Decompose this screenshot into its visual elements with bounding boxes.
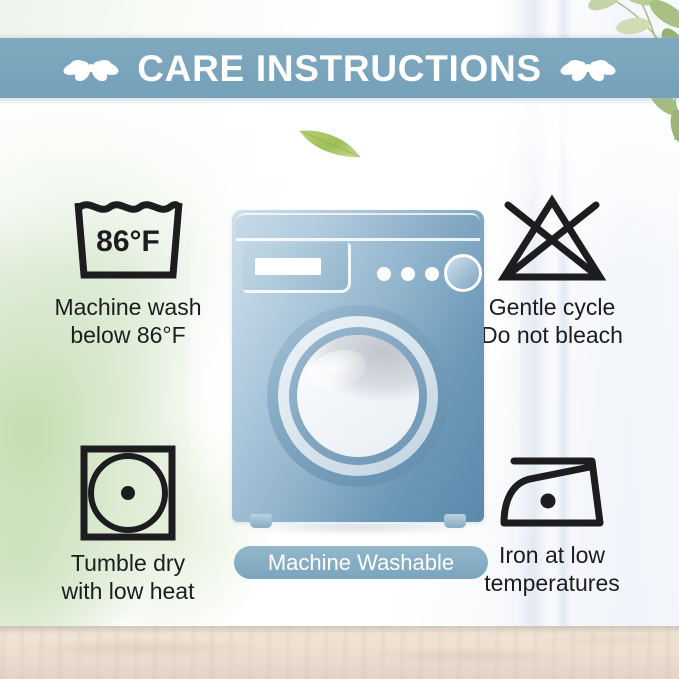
control-knob — [444, 254, 482, 292]
washing-machine-illustration — [232, 210, 484, 530]
machine-foot-left — [250, 514, 272, 528]
tumble-dry-heat-dot — [121, 486, 135, 500]
fleur-de-lis-icon-left — [63, 46, 119, 90]
care-label-machine-wash: Machine wash below 86°F — [8, 293, 248, 349]
header-banner: CARE INSTRUCTIONS — [0, 38, 679, 98]
tumble-dry-low-icon — [8, 443, 248, 543]
wood-grain-texture — [0, 626, 679, 679]
control-indicator-dot-1 — [377, 267, 391, 281]
care-label-tumble-dry: Tumble dry with low heat — [8, 549, 248, 605]
wash-basin-icon: 86°F — [8, 193, 248, 285]
floating-leaf-icon — [296, 122, 366, 164]
machine-washable-badge: Machine Washable — [234, 546, 488, 579]
machine-foot-right — [444, 514, 466, 528]
wooden-table-surface — [0, 626, 679, 679]
fleur-de-lis-icon-right — [560, 46, 616, 90]
machine-top-panel — [236, 213, 480, 239]
machine-panel-divider — [236, 238, 480, 241]
control-indicator-dot-2 — [401, 267, 415, 281]
door-glass — [297, 335, 419, 457]
table-front-edge — [0, 626, 679, 633]
detergent-drawer — [243, 243, 351, 293]
wash-temperature-value: 86°F — [96, 225, 160, 258]
banner-bottom-shadow — [0, 98, 679, 105]
machine-washable-badge-label: Machine Washable — [268, 552, 454, 574]
care-symbol-tumble-dry: Tumble dry with low heat — [8, 443, 248, 605]
iron-temperature-dot — [541, 494, 556, 509]
care-instructions-infographic: CARE INSTRUCTIONS — [0, 0, 679, 679]
care-symbol-machine-wash: 86°F Machine wash below 86°F — [8, 193, 248, 349]
page-title: CARE INSTRUCTIONS — [137, 50, 542, 87]
machine-ground-shadow — [240, 524, 476, 536]
detergent-drawer-slot — [255, 258, 321, 275]
control-indicator-dot-3 — [425, 267, 439, 281]
